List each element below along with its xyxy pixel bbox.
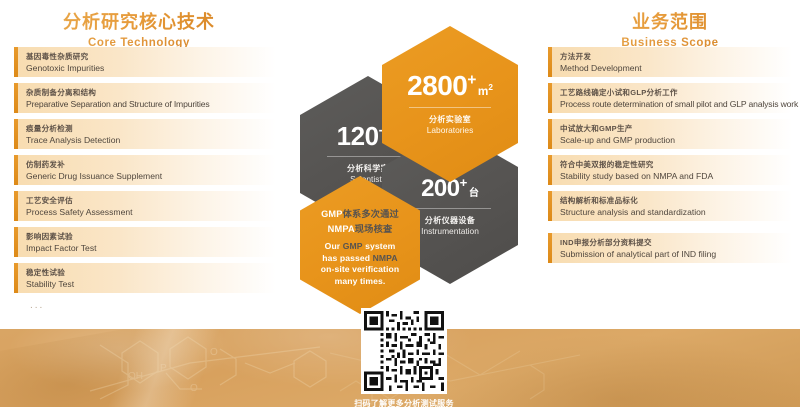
instrumentation-label-en: Instrumentation bbox=[421, 226, 479, 237]
qr-caption: 扫码了解更多分析测试服务 Scan the code to learn more bbox=[352, 398, 456, 407]
business-scope-list: 方法开发 Method Development 工艺路线确定小试和GLP分析工作… bbox=[548, 47, 792, 269]
list-item[interactable]: 结构解析和标准品标化 Structure analysis and standa… bbox=[548, 191, 792, 221]
list-item-cn: 杂质制备分离和结构 bbox=[26, 87, 270, 98]
qr-caption-cn: 扫码了解更多分析测试服务 bbox=[352, 398, 456, 407]
hexagon-stats-cluster: 120+名 分析科学家 Scientists 200+台 分析仪器设备 Inst… bbox=[286, 26, 518, 288]
list-item-en: Trace Analysis Detection bbox=[26, 134, 270, 146]
gmp-headline-en: Our GMP system has passed NMPA on-site v… bbox=[321, 241, 399, 287]
left-heading-cn: 分析研究核心技术 bbox=[14, 8, 264, 34]
svg-text:O: O bbox=[190, 383, 198, 394]
svg-text:OH: OH bbox=[128, 371, 143, 382]
list-item[interactable]: 杂质制备分离和结构 Preparative Separation and Str… bbox=[14, 83, 276, 113]
laboratories-value: 2800+m2 bbox=[407, 72, 493, 100]
more-items-indicator: ... bbox=[30, 300, 276, 311]
list-item[interactable]: 影响因素试验 Impact Factor Test bbox=[14, 227, 276, 257]
list-item[interactable]: 工艺路线确定小试和GLP分析工作 Process route determina… bbox=[548, 83, 792, 113]
divider bbox=[409, 107, 491, 108]
list-item[interactable]: 稳定性试验 Stability Test bbox=[14, 263, 276, 293]
list-item-cn: IND申报分析部分资料提交 bbox=[560, 237, 786, 248]
list-item[interactable]: 符合中美双报的稳定性研究 Stability study based on NM… bbox=[548, 155, 792, 185]
divider bbox=[327, 156, 409, 157]
list-item-cn: 符合中美双报的稳定性研究 bbox=[560, 159, 786, 170]
svg-text:O: O bbox=[210, 347, 218, 358]
list-item-en: Impact Factor Test bbox=[26, 242, 270, 254]
list-item-cn: 工艺路线确定小试和GLP分析工作 bbox=[560, 87, 786, 98]
list-item-cn: 结构解析和标准品标化 bbox=[560, 195, 786, 206]
list-item-en: Generic Drug Issuance Supplement bbox=[26, 170, 270, 182]
chemical-structure-watermark: OH P O O bbox=[70, 333, 370, 407]
list-item[interactable]: IND申报分析部分资料提交 Submission of analytical p… bbox=[548, 233, 792, 263]
list-item[interactable]: 痕量分析检测 Trace Analysis Detection bbox=[14, 119, 276, 149]
list-item-en: Structure analysis and standardization bbox=[560, 206, 786, 218]
qr-code-icon[interactable] bbox=[361, 308, 447, 394]
core-technology-list: 基因毒性杂质研究 Genotoxic Impurities 杂质制备分离和结构 … bbox=[14, 47, 276, 311]
list-item-en: Method Development bbox=[560, 62, 786, 74]
list-item-en: Process Safety Assessment bbox=[26, 206, 270, 218]
list-item-cn: 中试放大和GMP生产 bbox=[560, 123, 786, 134]
list-item-en: Submission of analytical part of IND fil… bbox=[560, 248, 786, 260]
laboratories-label-cn: 分析实验室 bbox=[429, 114, 471, 125]
qr-code-block: 扫码了解更多分析测试服务 Scan the code to learn more bbox=[352, 308, 456, 407]
list-item-cn: 稳定性试验 bbox=[26, 267, 270, 278]
list-item-cn: 痕量分析检测 bbox=[26, 123, 270, 134]
instrumentation-label-cn: 分析仪器设备 bbox=[425, 215, 475, 226]
list-item-en: Stability study based on NMPA and FDA bbox=[560, 170, 786, 182]
list-item-en: Process route determination of small pil… bbox=[560, 98, 786, 110]
list-item-en: Genotoxic Impurities bbox=[26, 62, 270, 74]
list-item[interactable]: 基因毒性杂质研究 Genotoxic Impurities bbox=[14, 47, 276, 77]
list-item[interactable]: 工艺安全评估 Process Safety Assessment bbox=[14, 191, 276, 221]
list-item-cn: 方法开发 bbox=[560, 51, 786, 62]
list-item[interactable]: 仿制药发补 Generic Drug Issuance Supplement bbox=[14, 155, 276, 185]
right-heading-cn: 业务范围 bbox=[548, 8, 792, 34]
list-item-cn: 基因毒性杂质研究 bbox=[26, 51, 270, 62]
divider bbox=[409, 208, 491, 209]
list-item-en: Preparative Separation and Structure of … bbox=[26, 98, 270, 110]
list-item-en: Stability Test bbox=[26, 278, 270, 290]
list-item-en: Scale-up and GMP production bbox=[560, 134, 786, 146]
slide-canvas: OH P O O 分析研究核心技术 Core Technology 基因毒性杂质… bbox=[0, 0, 800, 407]
list-item-cn: 影响因素试验 bbox=[26, 231, 270, 242]
list-item[interactable]: 方法开发 Method Development bbox=[548, 47, 792, 77]
list-item-cn: 工艺安全评估 bbox=[26, 195, 270, 206]
list-item[interactable]: 中试放大和GMP生产 Scale-up and GMP production bbox=[548, 119, 792, 149]
list-item-cn: 仿制药发补 bbox=[26, 159, 270, 170]
laboratories-label-en: Laboratories bbox=[427, 125, 474, 136]
left-column-heading: 分析研究核心技术 Core Technology bbox=[14, 8, 264, 49]
svg-text:P: P bbox=[160, 363, 167, 374]
right-column-heading: 业务范围 Business Scope bbox=[548, 8, 792, 49]
gmp-headline-cn: GMP体系多次通过 NMPA现场核查 bbox=[321, 207, 399, 237]
